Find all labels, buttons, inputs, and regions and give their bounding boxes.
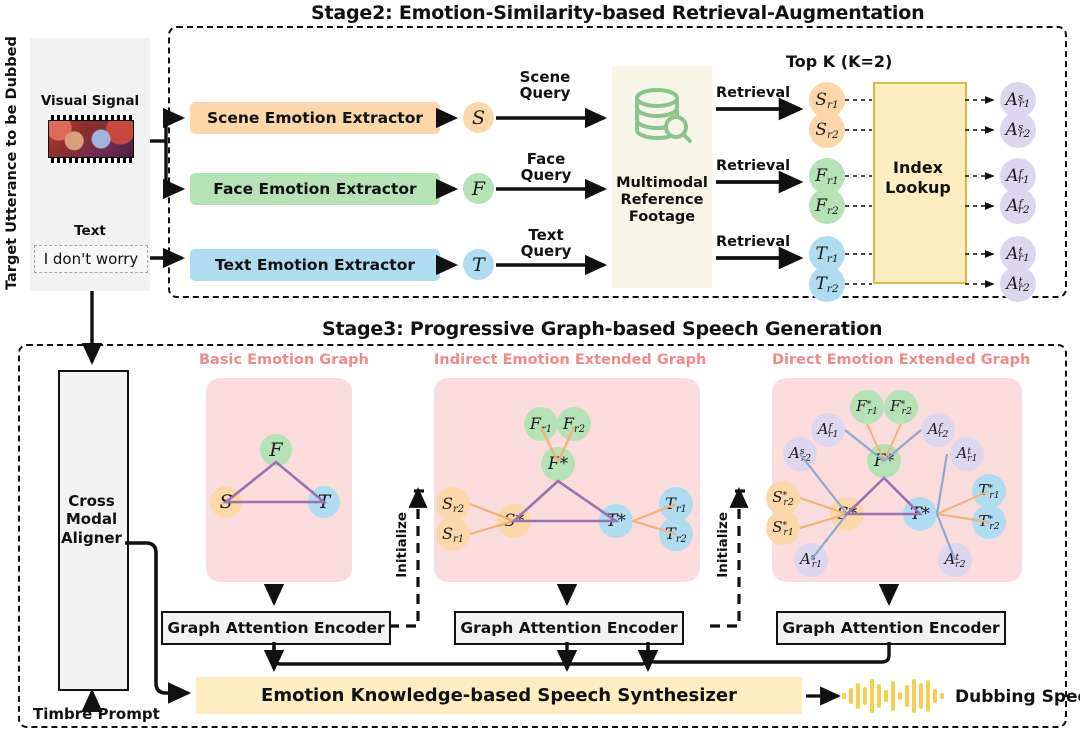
graph3-node-Ssr1: S*r1 [766,511,800,545]
cross-modal-aligner-label: Cross Modal Aligner [58,492,125,547]
mrf-line3: Footage [612,209,712,226]
retrieved-node-Tr2: Tr2 [809,266,845,302]
graph1-node-F: F [260,434,292,466]
cma-line3: Aligner [58,529,125,547]
graph3-node-Afr1: Afr1 [811,413,845,447]
graph3-node-Atr1: Atr1 [950,437,984,471]
audio-node-As-r2: Asr2 [1000,112,1036,148]
face-emotion-extractor[interactable]: Face Emotion Extractor [190,173,440,205]
speech-synthesizer-bar[interactable]: Emotion Knowledge-based Speech Synthesiz… [196,677,802,714]
waveform-icon [840,678,960,714]
visual-signal-label: Visual Signal [30,92,150,110]
graph3-node-Sstar: S* [830,497,864,531]
graph-attention-encoder-1[interactable]: Graph Attention Encoder [161,611,391,645]
text-query-line2: Query [516,244,576,260]
initialize-label-2: Initialize [715,512,731,578]
graph3-node-Ssr2: S*r2 [766,481,800,515]
graph3-node-Fsr2: F*r2 [884,390,918,424]
scene-emotion-extractor[interactable]: Scene Emotion Extractor [190,102,440,134]
graph-attention-encoder-2[interactable]: Graph Attention Encoder [454,611,684,645]
graph3-node-Tstar: T* [903,497,937,531]
scene-query-label: Scene Query [513,70,577,102]
graph2-node-Tr2: Tr2 [659,517,693,551]
graph3-node-Tsr2: T*r2 [972,505,1006,539]
dubbing-speech-label: Dubbing Speech [955,687,1080,707]
face-query-label: Face Query [516,152,576,184]
graph2-node-Fr2: Fr2 [557,407,591,441]
graph2-node-Sr1: Sr1 [436,517,470,551]
graph3-node-Afr2: Afr2 [921,413,955,447]
database-search-icon [630,86,694,146]
graph3-node-Asr1: Asr1 [794,543,828,577]
cma-line1: Cross [58,492,125,510]
scene-node-S: S [463,102,494,133]
stage3-title: Stage3: Progressive Graph-based Speech G… [322,318,882,340]
visual-signal-thumbnail [48,115,134,163]
graph2-node-Tstar: T* [599,504,633,538]
retrieval-label-face: Retrieval [716,158,790,174]
scene-query-line2: Query [513,86,577,102]
mrf-line1: Multimodal [612,175,712,192]
index-lookup-line1: Index [873,158,963,178]
mrf-line2: Reference [612,192,712,209]
graph2-node-Tr1: Tr1 [659,487,693,521]
text-node-T: T [463,249,494,280]
index-lookup-label: Index Lookup [873,158,963,198]
audio-node-At-r2: Atr2 [1000,266,1036,302]
stage2-title: Stage2: Emotion-Similarity-based Retriev… [311,2,924,24]
retrieved-node-Sr2: Sr2 [809,112,845,148]
graph2-node-Sstar: S* [497,504,531,538]
audio-node-Af-r2: Afr2 [1000,188,1036,224]
graph1-node-S: S [210,486,242,518]
face-node-F: F [463,173,494,204]
retrieved-node-Fr2: Fr2 [809,188,845,224]
text-input-value[interactable]: I don't worry [34,245,148,273]
multimodal-reference-footage-label: Multimodal Reference Footage [612,175,712,226]
index-lookup-line2: Lookup [873,178,963,198]
timbre-prompt-label: Timbre Prompt [33,705,160,723]
face-query-line2: Query [516,168,576,184]
graph2-node-Fr1: Fr1 [524,407,558,441]
basic-emotion-graph-box [206,378,352,582]
text-query-label: Text Query [516,228,576,260]
graph3-node-Tsr1: T*r1 [972,474,1006,508]
topk-label: Top K (K=2) [786,52,892,71]
graph-attention-encoder-3[interactable]: Graph Attention Encoder [776,611,1006,645]
retrieval-label-text: Retrieval [716,234,790,250]
cma-line2: Modal [58,510,125,528]
graph-label-direct: Direct Emotion Extended Graph [772,352,1030,368]
graph-label-basic: Basic Emotion Graph [199,352,369,368]
graph2-node-Fstar: F* [541,447,575,481]
graph3-node-Asr2: Asr2 [783,437,817,471]
target-utterance-label: Target Utterance to be Dubbed [4,30,20,290]
graph3-node-Fsr1: F*r1 [850,390,884,424]
graph2-node-Sr2: Sr2 [436,487,470,521]
graph3-node-Fstar: F* [867,444,901,478]
text-label: Text [30,222,150,240]
initialize-label-1: Initialize [394,512,410,578]
text-emotion-extractor[interactable]: Text Emotion Extractor [190,249,440,281]
retrieval-label-scene: Retrieval [716,85,790,101]
graph1-node-T: T [308,486,340,518]
graph3-node-Atr2: Atr2 [938,543,972,577]
graph-label-indirect: Indirect Emotion Extended Graph [434,352,706,368]
